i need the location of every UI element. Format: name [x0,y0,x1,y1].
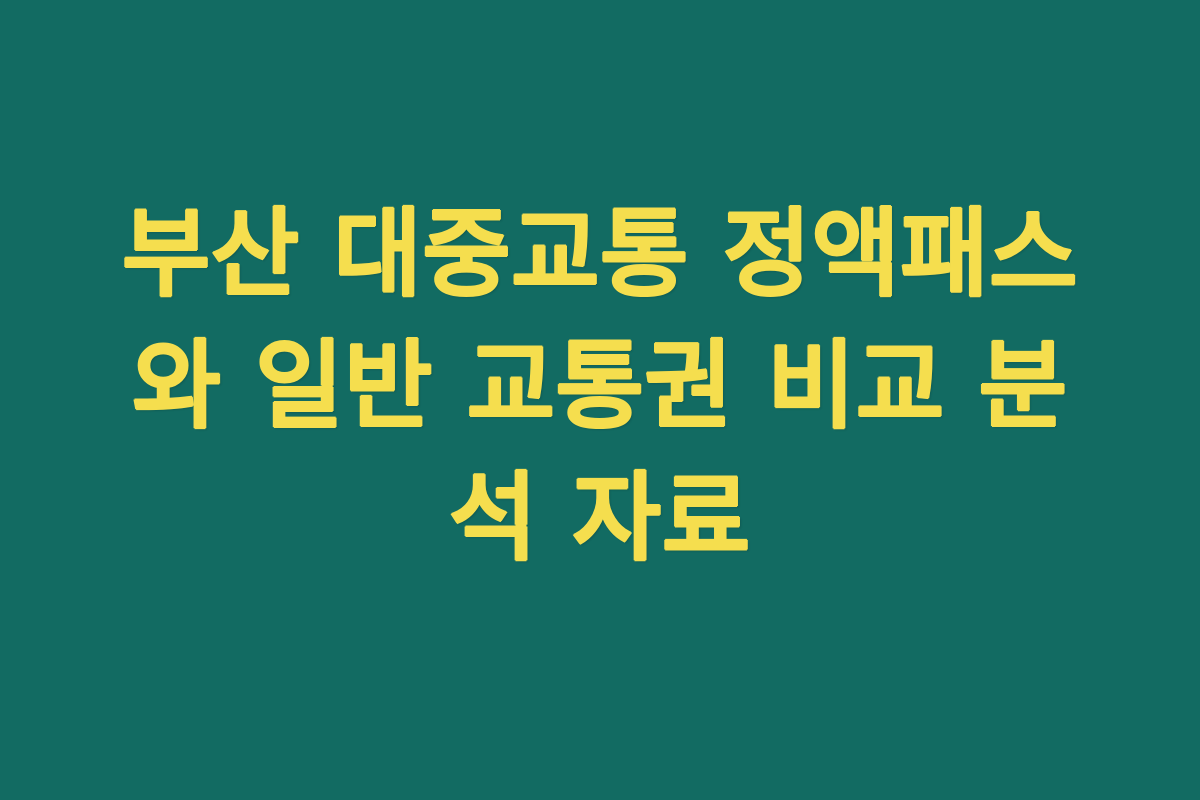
headline-line-3: 석 자료 [70,452,1130,584]
headline-line-1: 부산 대중교통 정액패스 [70,188,1130,320]
headline-line-2: 와 일반 교통권 비교 분 [70,320,1130,452]
headline-block: 부산 대중교통 정액패스 와 일반 교통권 비교 분 석 자료 [70,188,1130,584]
title-card: 부산 대중교통 정액패스와 일반 교통권 비교 분석 자료 부산 대중교통 정액… [0,0,1200,800]
